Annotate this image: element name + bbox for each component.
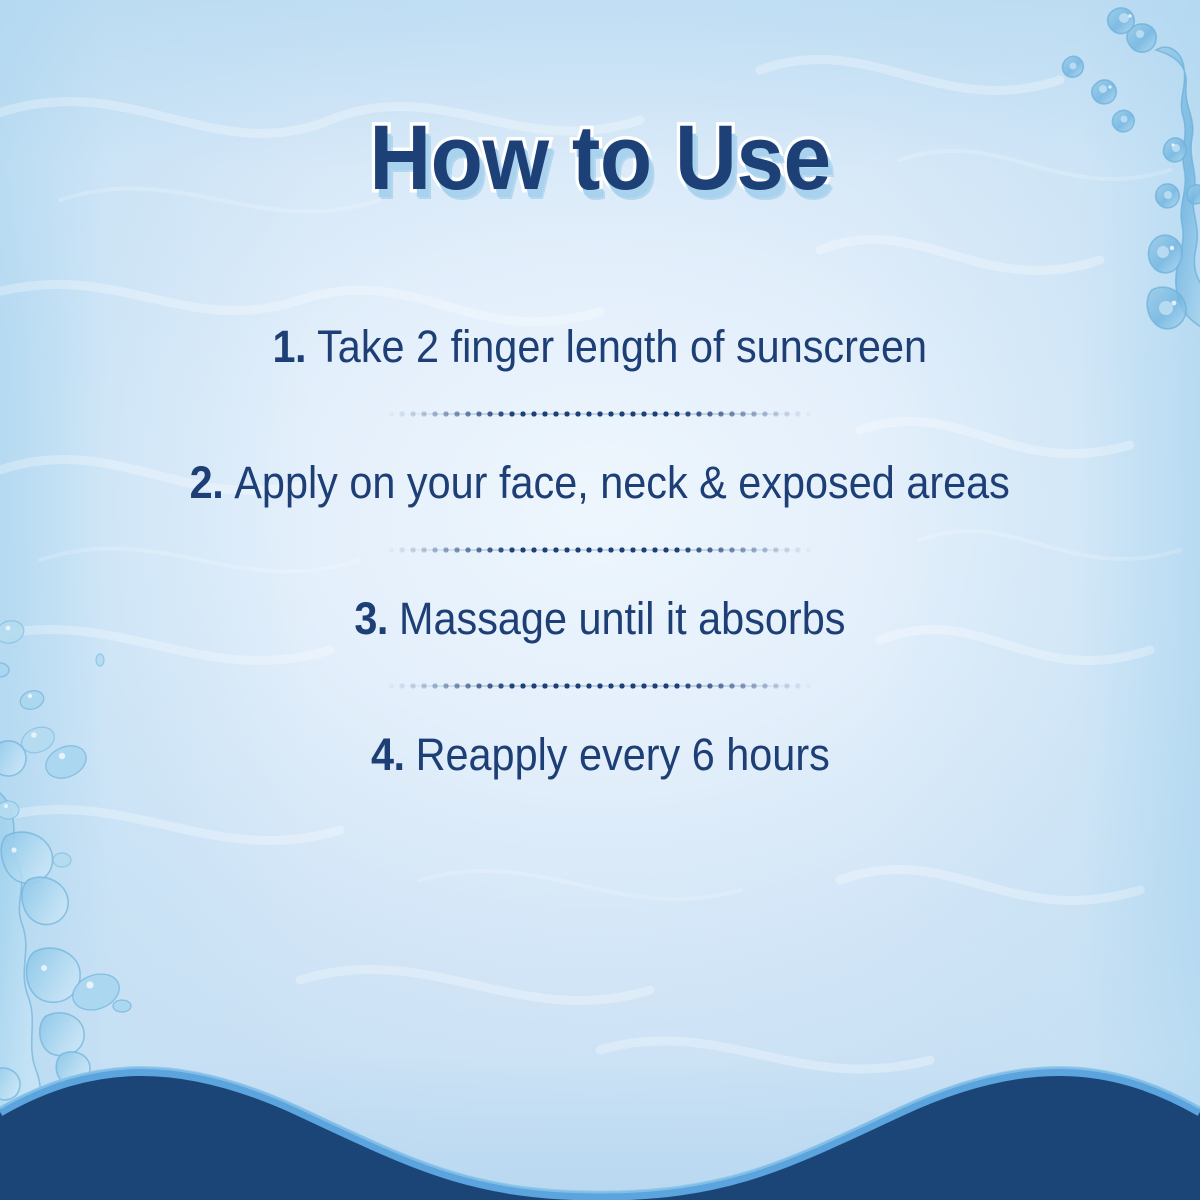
step-divider — [0, 392, 1200, 436]
list-item: 3. Massage until it absorbs — [0, 572, 1200, 664]
step-divider-dots — [385, 684, 815, 689]
list-item: 2. Apply on your face, neck & exposed ar… — [0, 436, 1200, 528]
step-divider — [0, 528, 1200, 572]
step-text: Take 2 finger length of sunscreen — [317, 324, 927, 369]
step-number: 2. — [190, 460, 224, 505]
step-divider-dots — [385, 412, 815, 417]
page-title-wrap: How to Use — [0, 112, 1200, 204]
step-number: 3. — [354, 596, 388, 641]
step-divider — [0, 664, 1200, 708]
page-title-text: How to Use — [369, 107, 830, 209]
step-text: Apply on your face, neck & exposed areas — [235, 460, 1011, 505]
bottom-wave-icon — [0, 1020, 1200, 1200]
step-number: 1. — [273, 324, 307, 369]
step-text: Reapply every 6 hours — [415, 732, 829, 777]
step-divider-dots — [385, 548, 815, 553]
list-item: 4. Reapply every 6 hours — [0, 708, 1200, 800]
how-to-use-poster: How to Use 1. Take 2 finger length of su… — [0, 0, 1200, 1200]
steps-list: 1. Take 2 finger length of sunscreen 2. … — [0, 300, 1200, 800]
list-item: 1. Take 2 finger length of sunscreen — [0, 300, 1200, 392]
page-title: How to Use — [369, 112, 830, 204]
step-text: Massage until it absorbs — [399, 596, 845, 641]
step-number: 4. — [371, 732, 405, 777]
